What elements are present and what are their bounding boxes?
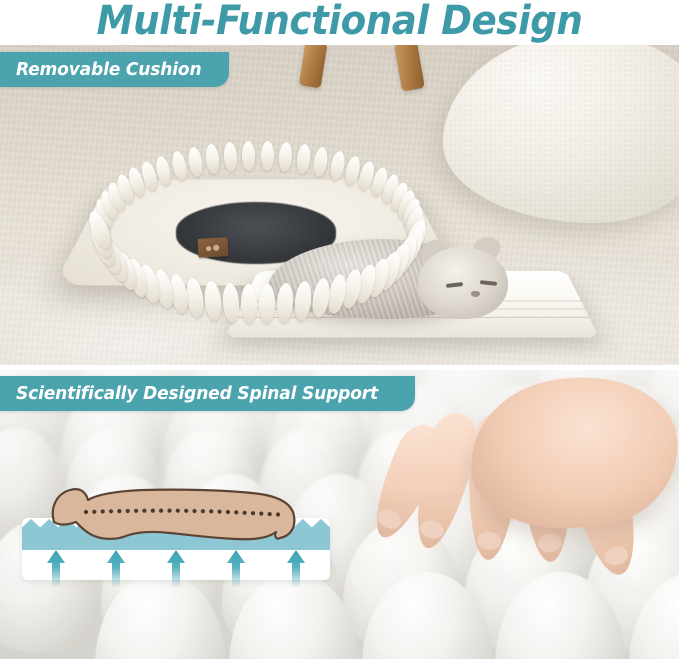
spine-dot bbox=[218, 510, 222, 514]
spine-dot bbox=[101, 509, 105, 513]
spine-dot bbox=[142, 509, 146, 513]
spine-dot bbox=[192, 509, 196, 513]
page-title: Multi-Functional Design bbox=[24, 0, 655, 44]
bed-rib bbox=[328, 150, 346, 182]
spine-dot bbox=[159, 509, 163, 513]
spine-dot bbox=[259, 512, 263, 516]
bed-rib bbox=[221, 282, 240, 323]
bed-rib bbox=[295, 143, 311, 174]
leather-brand-tag bbox=[198, 237, 229, 258]
fingernail bbox=[477, 531, 502, 551]
spine-dot bbox=[268, 512, 272, 516]
badge-removable-cushion: Removable Cushion bbox=[0, 52, 229, 87]
support-arrow bbox=[47, 550, 65, 588]
spine-dot bbox=[201, 509, 205, 513]
support-arrow bbox=[167, 550, 185, 588]
photo-removable-cushion bbox=[0, 45, 679, 365]
fingernail bbox=[375, 506, 404, 532]
spine-dot bbox=[176, 509, 180, 513]
badge-spinal-support-label: Scientifically Designed Spinal Support bbox=[16, 383, 378, 404]
spine-dot bbox=[84, 510, 88, 514]
product-feature-image: Multi-Functional Design bbox=[0, 0, 679, 659]
furniture-top bbox=[270, 45, 455, 49]
bed-rib bbox=[312, 146, 329, 178]
spine-dot bbox=[251, 511, 255, 515]
spine-dot bbox=[209, 509, 213, 513]
dog-silhouette-icon bbox=[40, 478, 308, 552]
support-arrow bbox=[107, 550, 125, 588]
bed-rib bbox=[240, 284, 257, 324]
spinal-support-diagram bbox=[22, 518, 330, 580]
fingernail bbox=[537, 533, 562, 552]
spine-dot bbox=[126, 509, 130, 513]
support-arrow-group bbox=[22, 548, 330, 588]
spine-dot bbox=[109, 509, 113, 513]
spine-dot bbox=[234, 510, 238, 514]
spine-dot bbox=[134, 509, 138, 513]
bed-rib bbox=[187, 146, 204, 178]
support-arrow bbox=[227, 550, 245, 588]
spine-dot bbox=[226, 510, 230, 514]
spine-dot bbox=[117, 509, 121, 513]
badge-spinal-support: Scientifically Designed Spinal Support bbox=[0, 376, 415, 411]
photo-spinal-support bbox=[0, 370, 679, 659]
support-arrow bbox=[287, 550, 305, 588]
fingernail bbox=[418, 518, 446, 541]
bed-rib bbox=[203, 280, 223, 322]
bed-rib bbox=[205, 143, 221, 174]
bed-rib bbox=[260, 141, 274, 171]
fingernail bbox=[603, 544, 630, 567]
badge-removable-cushion-label: Removable Cushion bbox=[16, 59, 201, 80]
spine-dot bbox=[184, 509, 188, 513]
bed-rib bbox=[278, 142, 293, 173]
spine-dot bbox=[92, 510, 96, 514]
pressing-hand bbox=[392, 378, 679, 593]
spine-dot bbox=[276, 512, 280, 516]
bed-rib bbox=[170, 150, 188, 182]
bed-rib bbox=[242, 141, 256, 171]
cat-nose bbox=[471, 291, 480, 297]
spine-dot bbox=[151, 509, 155, 513]
spine-dot bbox=[243, 511, 247, 515]
spine-dot bbox=[167, 509, 171, 513]
bed-rib bbox=[223, 142, 238, 173]
